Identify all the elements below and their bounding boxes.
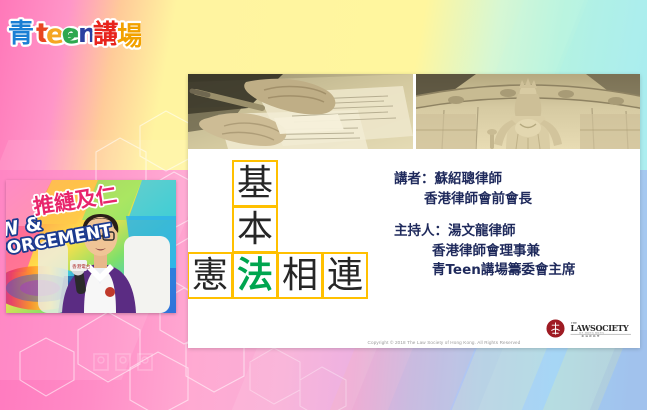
grid-cell-xiang: 相 bbox=[277, 252, 323, 299]
video-thumbnail[interactable]: 香港電台 W & FORCEMENT 推縺及仁 bbox=[6, 180, 176, 313]
credits-spacer bbox=[394, 209, 634, 222]
hands-signing-document-photo bbox=[188, 74, 413, 149]
presentation-slide: 基 本 憲 法 相 連 講者：蘇紹聰律師 香港律師會前會長 主持人：湯文龍律師 … bbox=[188, 74, 640, 348]
programme-logo: 青 t e e n 講 場 bbox=[6, 12, 141, 52]
screenshot-stage: 青 t e e n 講 場 bbox=[0, 0, 647, 410]
copyright-notice: Copyright © 2018 The Law Society of Hong… bbox=[188, 340, 640, 345]
law-society-wordmark: THE LAWSOCIETY OF HONG KONG 香港律師會 bbox=[570, 320, 632, 338]
grid-cell-fa: 法 bbox=[232, 252, 278, 299]
grid-cell-ji: 基 bbox=[232, 160, 278, 207]
statue-of-justice-photo bbox=[416, 74, 640, 149]
svg-text:場: 場 bbox=[117, 22, 141, 52]
host-name-line: 主持人：湯文龍律師 bbox=[394, 222, 634, 242]
svg-text:OF HONG KONG: OF HONG KONG bbox=[579, 331, 604, 334]
grid-cell-xian: 憲 bbox=[188, 252, 233, 299]
grid-cell-lian: 連 bbox=[322, 252, 368, 299]
host-title-line-2: 青Teen講場籌委會主席 bbox=[394, 261, 634, 281]
background-icon-row bbox=[92, 348, 172, 374]
svg-text:講: 講 bbox=[93, 19, 119, 50]
slide-photo-band bbox=[188, 74, 640, 149]
speaker-title-line: 香港律師會前會長 bbox=[394, 190, 634, 210]
grid-cell-ben: 本 bbox=[232, 206, 278, 253]
svg-text:香港律師會: 香港律師會 bbox=[581, 334, 600, 337]
svg-text:香港電台: 香港電台 bbox=[72, 263, 91, 270]
svg-text:青: 青 bbox=[8, 19, 34, 49]
law-society-of-hong-kong-logo: THE LAWSOCIETY OF HONG KONG 香港律師會 bbox=[546, 319, 632, 338]
host-title-line-1: 香港律師會理事兼 bbox=[394, 242, 634, 262]
speaker-name-line: 講者：蘇紹聰律師 bbox=[394, 170, 634, 190]
title-character-grid: 基 本 憲 法 相 連 bbox=[188, 160, 364, 300]
speaker-credits: 講者：蘇紹聰律師 香港律師會前會長 主持人：湯文龍律師 香港律師會理事兼 青Te… bbox=[394, 170, 634, 281]
law-society-seal-icon bbox=[546, 319, 565, 338]
